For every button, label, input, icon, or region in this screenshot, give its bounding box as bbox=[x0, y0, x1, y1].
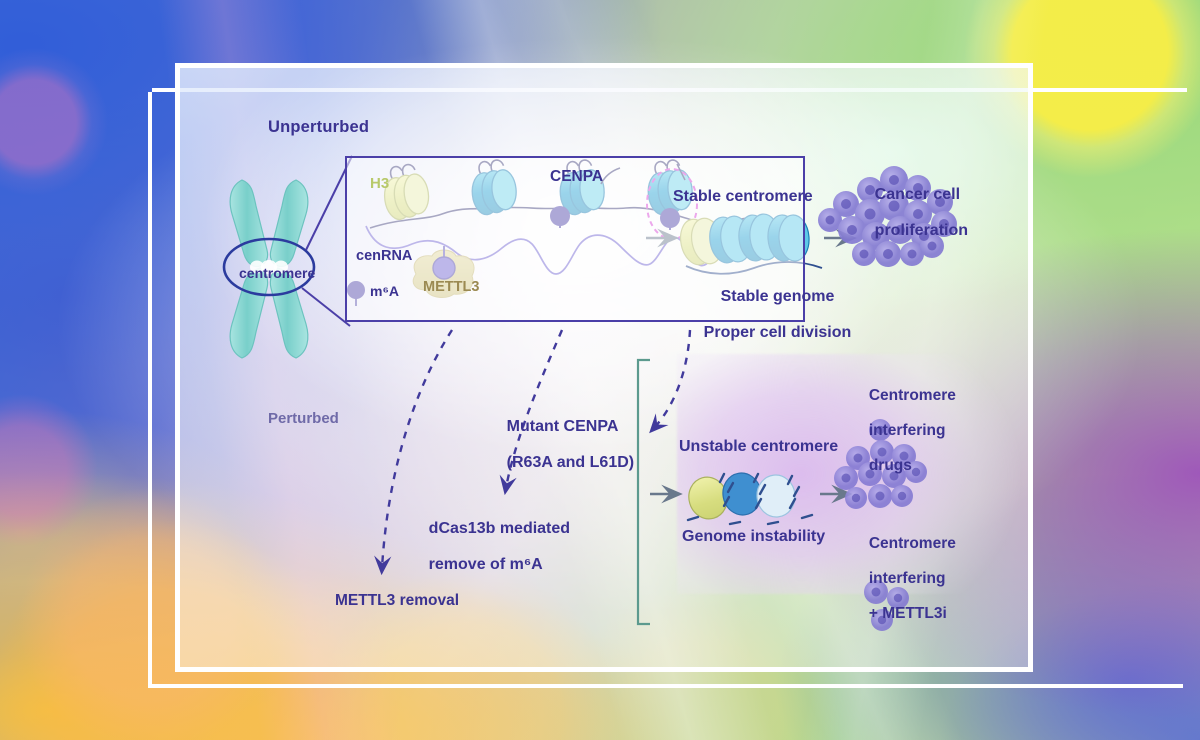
label-centromere: centromere bbox=[239, 266, 315, 282]
drugs-line3: drugs bbox=[869, 457, 912, 474]
dcas13b-line2: remove of m⁶A bbox=[429, 556, 543, 573]
label-stable-genome: Stable genome Proper cell division bbox=[677, 270, 851, 360]
chromosome-graphic bbox=[224, 156, 352, 358]
drugs-line1: Centromere bbox=[869, 387, 956, 404]
label-cenpa: CENPA bbox=[550, 168, 603, 185]
drugs2-line3: + METTL3i bbox=[869, 605, 947, 622]
label-unperturbed: Unperturbed bbox=[268, 118, 369, 136]
stable-genome-line1: Stable genome bbox=[721, 288, 835, 305]
pathway-bracket bbox=[638, 360, 650, 624]
label-centromere-interfering-drugs: Centromere interfering drugs bbox=[843, 370, 956, 492]
mutant-cenpa-line1: Mutant CENPA bbox=[507, 418, 619, 435]
cancer-line1: Cancer cell bbox=[875, 186, 960, 203]
label-unstable-centromere: Unstable centromere bbox=[679, 438, 838, 456]
label-perturbed: Perturbed bbox=[268, 411, 339, 428]
label-stable-centromere: Stable centromere bbox=[673, 188, 813, 206]
label-m6a: m⁶A bbox=[370, 284, 399, 300]
label-mettl3: METTL3 bbox=[423, 279, 479, 295]
unstable-centromere-graphic bbox=[684, 470, 812, 524]
cancer-line2: proliferation bbox=[875, 222, 968, 239]
label-centromere-interfering-mettl3i: Centromere interfering + METTL3i bbox=[843, 518, 956, 640]
stable-genome-line2: Proper cell division bbox=[704, 324, 852, 341]
label-cancer-proliferation: Cancer cell proliferation bbox=[848, 168, 968, 258]
label-genome-instability: Genome instability bbox=[682, 528, 825, 546]
figure-canvas: Unperturbed Perturbed centromere H3 CENP… bbox=[0, 0, 1200, 740]
label-mettl3-removal: METTL3 removal bbox=[335, 592, 459, 609]
mutant-cenpa-line2: (R63A and L61D) bbox=[507, 454, 634, 471]
diagram-panel: Unperturbed Perturbed centromere H3 CENP… bbox=[180, 68, 1028, 667]
dcas13b-line1: dCas13b mediated bbox=[429, 520, 570, 537]
drugs2-line1: Centromere bbox=[869, 535, 956, 552]
label-cenrna: cenRNA bbox=[356, 248, 412, 264]
drugs-line2: interfering bbox=[869, 422, 946, 439]
label-dcas13b: dCas13b mediated remove of m⁶A bbox=[402, 502, 570, 592]
label-h3: H3 bbox=[370, 176, 389, 193]
drugs2-line2: interfering bbox=[869, 570, 946, 587]
label-mutant-cenpa: Mutant CENPA (R63A and L61D) bbox=[480, 400, 634, 490]
